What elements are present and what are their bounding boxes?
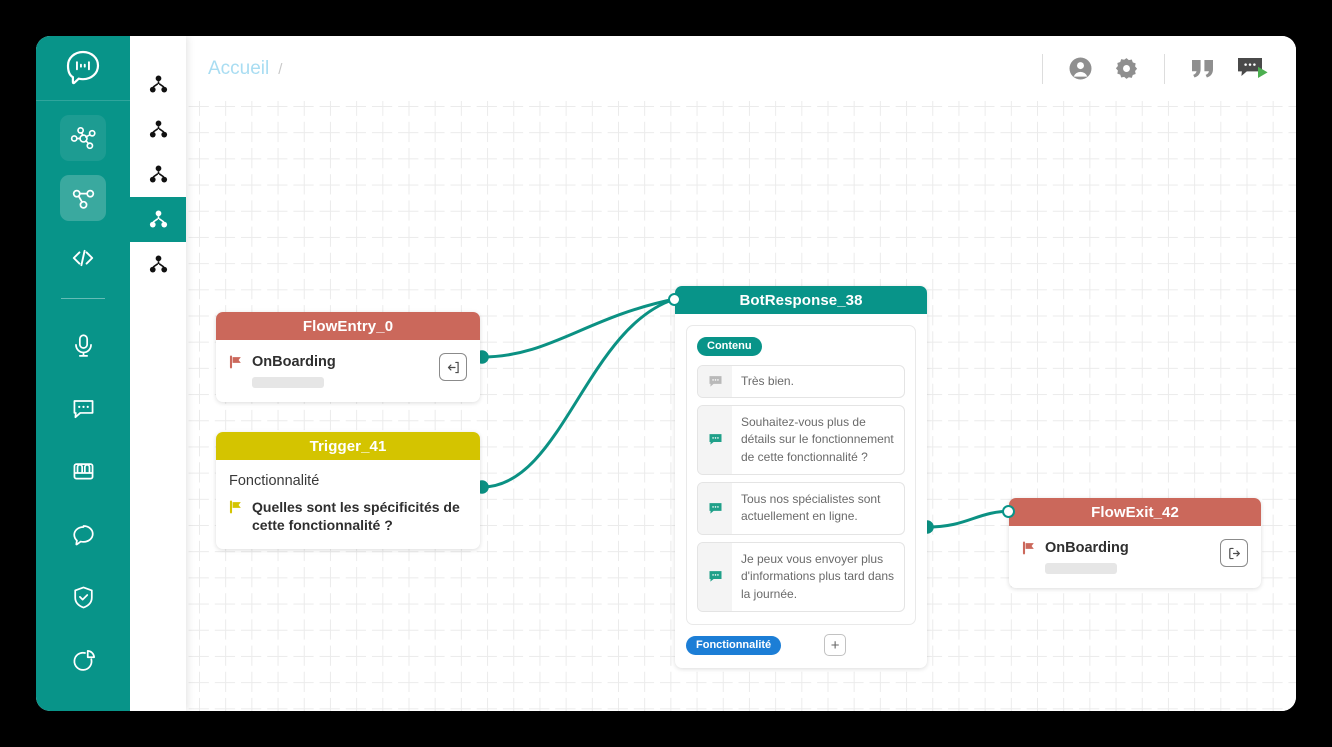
enter-arrow-icon bbox=[446, 360, 461, 375]
message-text: Je peux vous envoyer plus d'informations… bbox=[732, 543, 904, 611]
shield-check-icon bbox=[70, 584, 97, 611]
gear-icon-glyph bbox=[1113, 55, 1140, 82]
message-row[interactable]: Souhaitez-vous plus de détails sur le fo… bbox=[697, 405, 905, 475]
node-bot-response-title: BotResponse_38 bbox=[739, 292, 862, 309]
node-flow-entry[interactable]: FlowEntry_0 OnBoarding bbox=[216, 312, 480, 402]
sidebar-item-conversation[interactable] bbox=[60, 511, 106, 557]
node-bot-response[interactable]: BotResponse_38 Contenu Très bien. bbox=[675, 286, 927, 668]
exit-arrow-icon bbox=[1227, 546, 1242, 561]
pie-chart-icon bbox=[70, 647, 97, 674]
flag-icon bbox=[229, 500, 243, 519]
flow-list-sidebar bbox=[130, 36, 186, 711]
node-bot-response-header[interactable]: BotResponse_38 bbox=[675, 286, 927, 314]
flow-exit-input-port[interactable] bbox=[1002, 505, 1015, 518]
flow-tree-item-2[interactable] bbox=[130, 107, 186, 152]
flow-entry-enter-button[interactable] bbox=[439, 353, 467, 381]
brand-logo[interactable] bbox=[36, 36, 130, 101]
flag-icon bbox=[1022, 541, 1036, 560]
flow-tree-item-4[interactable] bbox=[130, 197, 186, 242]
message-row[interactable]: Très bien. bbox=[697, 365, 905, 398]
header-divider-2 bbox=[1164, 54, 1165, 84]
sidebar-item-analytics[interactable] bbox=[60, 637, 106, 683]
trigger-question: Quelles sont les spécificités de cette f… bbox=[252, 498, 467, 535]
quote-icon-glyph bbox=[1189, 57, 1217, 81]
flow-exit-label: OnBoarding bbox=[1045, 539, 1129, 557]
gear-icon[interactable] bbox=[1113, 55, 1140, 82]
trigger-category: Fonctionnalité bbox=[229, 473, 467, 489]
node-trigger-header[interactable]: Trigger_41 bbox=[216, 432, 480, 460]
node-flow-exit-header[interactable]: FlowExit_42 bbox=[1009, 498, 1261, 526]
node-flow-entry-body: OnBoarding bbox=[216, 340, 480, 402]
chat-waveform-logo-icon bbox=[62, 47, 104, 89]
message-icon-cell bbox=[698, 483, 732, 534]
code-brackets-icon bbox=[69, 244, 97, 272]
sidebar-item-network[interactable] bbox=[60, 115, 106, 161]
node-flow-exit[interactable]: FlowExit_42 OnBoarding bbox=[1009, 498, 1261, 588]
hierarchy-icon bbox=[148, 209, 169, 230]
sidebar-item-flow[interactable] bbox=[60, 175, 106, 221]
flow-exit-row: OnBoarding bbox=[1022, 539, 1248, 574]
sidebar-item-code[interactable] bbox=[60, 235, 106, 281]
footer-badge[interactable]: Fonctionnalité bbox=[686, 636, 781, 655]
sidebar-item-library[interactable] bbox=[60, 448, 106, 494]
chat-play-icon[interactable] bbox=[1236, 55, 1270, 82]
message-icon-cell bbox=[698, 366, 732, 397]
node-flow-entry-title: FlowEntry_0 bbox=[303, 318, 393, 335]
sidebar-item-messages[interactable] bbox=[60, 385, 106, 431]
header-actions bbox=[1037, 54, 1270, 84]
message-text: Souhaitez-vous plus de détails sur le fo… bbox=[732, 406, 904, 474]
network-nodes-icon bbox=[70, 125, 97, 152]
bot-response-input-port[interactable] bbox=[668, 293, 681, 306]
account-icon-glyph bbox=[1067, 55, 1094, 82]
sidebar-item-security[interactable] bbox=[60, 574, 106, 620]
flag-icon bbox=[229, 355, 243, 374]
bot-message-icon bbox=[708, 432, 723, 447]
bot-response-content-card: Contenu Très bien. bbox=[686, 325, 916, 625]
message-text: Tous nos spécialistes sont actuellement … bbox=[732, 483, 904, 534]
speech-bubble-icon bbox=[70, 521, 97, 548]
node-trigger[interactable]: Trigger_41 Fonctionnalité Quelles sont l… bbox=[216, 432, 480, 549]
flow-tree-item-5[interactable] bbox=[130, 242, 186, 287]
message-row[interactable]: Tous nos spécialistes sont actuellement … bbox=[697, 482, 905, 535]
bot-response-footer: Fonctionnalité + bbox=[675, 625, 927, 668]
message-text: Très bien. bbox=[732, 366, 904, 397]
right-pane: Accueil / bbox=[186, 36, 1296, 711]
page-header: Accueil / bbox=[186, 36, 1296, 101]
quote-icon[interactable] bbox=[1189, 57, 1217, 81]
sidebar-divider bbox=[61, 298, 105, 299]
microphone-icon bbox=[70, 332, 97, 359]
chat-dots-icon bbox=[70, 395, 97, 422]
edge-botresponse-to-flowexit bbox=[927, 511, 1013, 527]
primary-sidebar bbox=[36, 36, 130, 711]
header-divider-1 bbox=[1042, 54, 1043, 84]
flow-branch-icon bbox=[70, 185, 97, 212]
message-icon-cell bbox=[698, 543, 732, 611]
sidebar-item-voice[interactable] bbox=[60, 322, 106, 368]
message-icon-cell bbox=[698, 406, 732, 474]
breadcrumb-home-link[interactable]: Accueil bbox=[208, 58, 269, 80]
hierarchy-icon bbox=[148, 254, 169, 275]
bot-message-icon bbox=[708, 569, 723, 584]
content-badge: Contenu bbox=[697, 337, 762, 356]
trigger-question-row: Quelles sont les spécificités de cette f… bbox=[229, 498, 467, 535]
hierarchy-icon bbox=[148, 119, 169, 140]
node-flow-exit-body: OnBoarding bbox=[1009, 526, 1261, 588]
chat-play-icon-glyph bbox=[1236, 55, 1270, 82]
flow-canvas[interactable]: FlowEntry_0 OnBoarding bbox=[186, 101, 1296, 711]
flow-entry-row: OnBoarding bbox=[229, 353, 467, 388]
bot-message-icon bbox=[708, 374, 723, 389]
books-icon bbox=[70, 458, 97, 485]
flow-entry-value-placeholder bbox=[252, 377, 324, 388]
message-row[interactable]: Je peux vous envoyer plus d'informations… bbox=[697, 542, 905, 612]
bot-message-icon bbox=[708, 501, 723, 516]
node-flow-exit-title: FlowExit_42 bbox=[1091, 504, 1179, 521]
flow-tree-item-1[interactable] bbox=[130, 62, 186, 107]
breadcrumb: Accueil / bbox=[208, 58, 282, 80]
node-trigger-body: Fonctionnalité Quelles sont les spécific… bbox=[216, 460, 480, 549]
flow-entry-label: OnBoarding bbox=[252, 353, 336, 371]
add-message-button[interactable]: + bbox=[824, 634, 846, 656]
flow-exit-exit-button[interactable] bbox=[1220, 539, 1248, 567]
edge-trigger-to-botresponse bbox=[482, 299, 675, 487]
flow-tree-item-3[interactable] bbox=[130, 152, 186, 197]
hierarchy-icon bbox=[148, 164, 169, 185]
app-window: Accueil / bbox=[36, 36, 1296, 711]
breadcrumb-separator: / bbox=[278, 61, 282, 78]
hierarchy-icon bbox=[148, 74, 169, 95]
node-flow-entry-header[interactable]: FlowEntry_0 bbox=[216, 312, 480, 340]
account-icon[interactable] bbox=[1067, 55, 1094, 82]
edge-entry-to-botresponse bbox=[482, 299, 675, 357]
flow-exit-value-placeholder bbox=[1045, 563, 1117, 574]
node-trigger-title: Trigger_41 bbox=[310, 438, 387, 455]
